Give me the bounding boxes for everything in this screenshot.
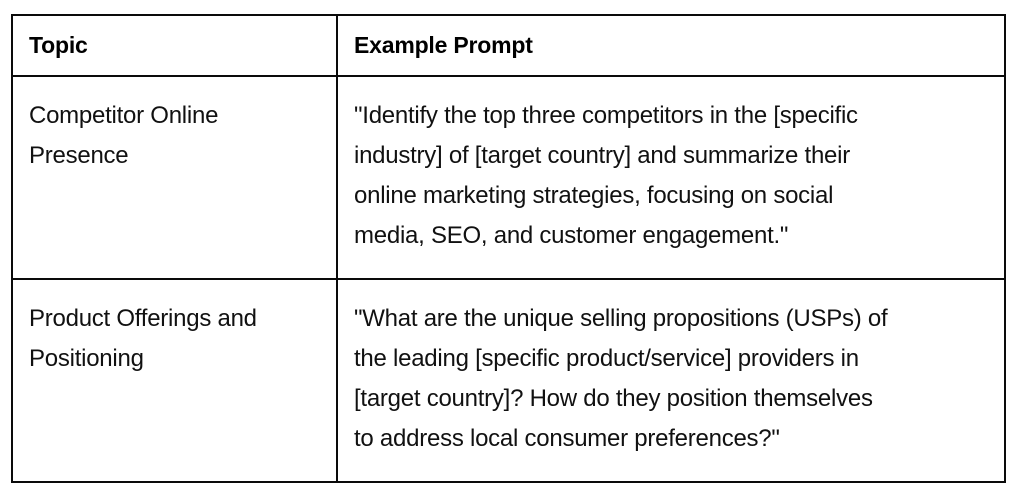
cell-prompt-1: "What are the unique selling proposition… [337, 279, 1005, 482]
column-header-example-prompt: Example Prompt [337, 15, 1005, 76]
column-header-topic: Topic [12, 15, 337, 76]
table-row: Competitor Online Presence "Identify the… [12, 76, 1005, 279]
page-root: Topic Example Prompt Competitor Online P… [0, 0, 1014, 478]
prompt-text-1: "What are the unique selling proposition… [354, 299, 988, 459]
table-body: Competitor Online Presence "Identify the… [12, 76, 1005, 482]
table-header: Topic Example Prompt [12, 15, 1005, 76]
prompt-table: Topic Example Prompt Competitor Online P… [11, 14, 1006, 483]
table-row: Product Offerings and Positioning "What … [12, 279, 1005, 482]
topic-text-1: Product Offerings and Positioning [29, 299, 320, 379]
cell-topic-1: Product Offerings and Positioning [12, 279, 337, 482]
table-header-row: Topic Example Prompt [12, 15, 1005, 76]
cell-prompt-0: "Identify the top three competitors in t… [337, 76, 1005, 279]
table-container: Topic Example Prompt Competitor Online P… [11, 14, 1004, 483]
cell-topic-0: Competitor Online Presence [12, 76, 337, 279]
column-header-example-prompt-label: Example Prompt [354, 31, 988, 59]
prompt-text-0: "Identify the top three competitors in t… [354, 96, 988, 256]
column-header-topic-label: Topic [29, 31, 320, 59]
topic-text-0: Competitor Online Presence [29, 96, 320, 176]
